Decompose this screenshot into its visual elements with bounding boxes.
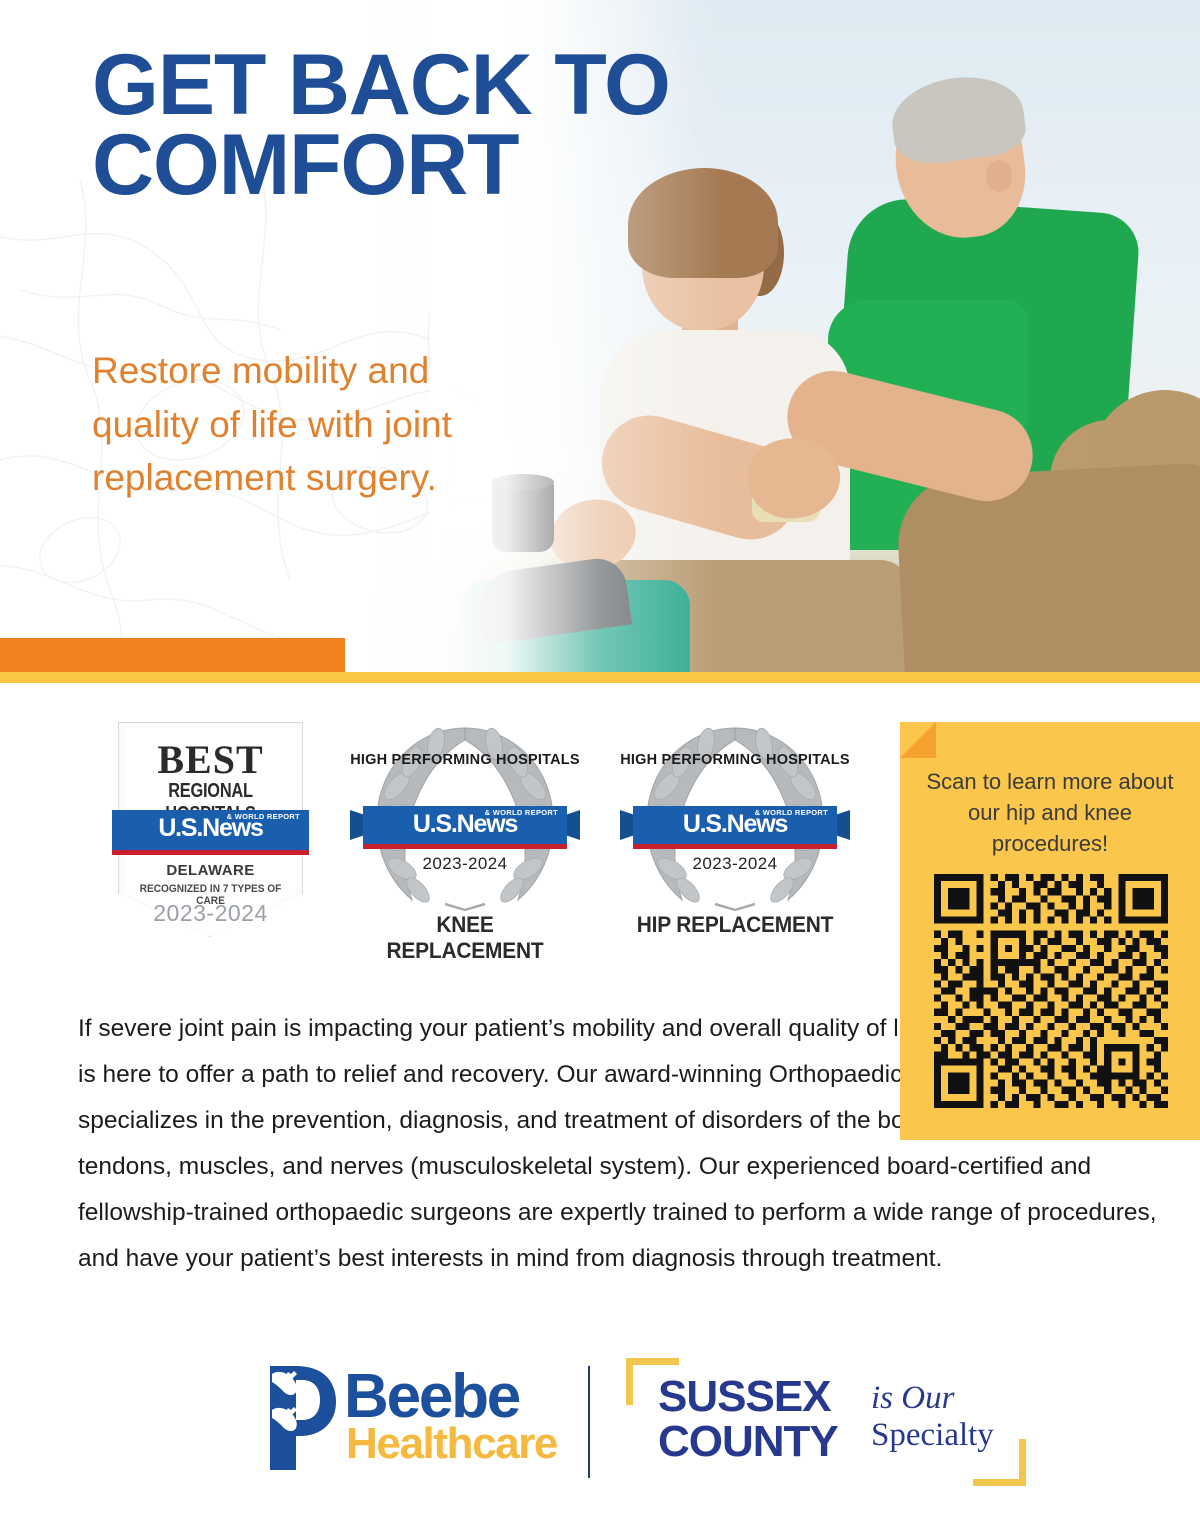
badge-years: 2023-2024 — [118, 900, 303, 927]
beebe-b-with-hands-icon — [266, 1364, 340, 1472]
world-report-text: & WORLD REPORT — [485, 808, 558, 817]
qr-code-icon — [934, 874, 1168, 1108]
badge-best-regional-hospitals: BEST REGIONAL HOSPITALS U.S.News & WORLD… — [118, 722, 303, 937]
folded-corner — [900, 722, 936, 758]
page-title: GET BACK TO COMFORT — [92, 46, 752, 206]
orange-accent-bar — [0, 638, 345, 672]
footer-logos: Beebe Healthcare SUSSEX COUNTY is Our Sp… — [0, 1352, 1200, 1522]
tagline-line2: Specialty — [871, 1417, 994, 1454]
healthcare-wordmark: Healthcare — [346, 1422, 557, 1466]
badge-knee-replacement: HIGH PERFORMING HOSPITALS U.S.News & WOR… — [350, 714, 580, 964]
badge-state: DELAWARE — [118, 862, 303, 879]
sussex-county-text: SUSSEX COUNTY — [658, 1374, 838, 1465]
ribbon-red-stripe — [633, 844, 837, 849]
badge-tier: HIGH PERFORMING HOSPITALS — [620, 752, 850, 770]
beebe-healthcare-logo[interactable]: Beebe Healthcare — [266, 1364, 556, 1484]
badge-years: 2023-2024 — [350, 854, 580, 874]
badge-hip-replacement: HIGH PERFORMING HOSPITALS U.S.News & WOR… — [620, 714, 850, 964]
badge-label: KNEE REPLACEMENT — [356, 912, 575, 964]
usnews-ribbon: U.S.News & WORLD REPORT — [633, 806, 837, 844]
hero-subheading: Restore mobility and quality of life wit… — [92, 344, 512, 505]
badge-tier: HIGH PERFORMING HOSPITALS — [350, 752, 580, 770]
badge-label: HIP REPLACEMENT — [626, 912, 845, 938]
tagline-line1: is Our — [871, 1380, 994, 1417]
logo-divider — [588, 1366, 590, 1478]
badge-best-word: BEST — [118, 736, 303, 783]
yellow-accent-bar — [0, 672, 1200, 683]
qr-instructions: Scan to learn more about our hip and kne… — [900, 766, 1200, 860]
man-ear — [986, 160, 1012, 192]
sussex-line2: COUNTY — [658, 1419, 838, 1464]
hero-section: GET BACK TO COMFORT Restore mobility and… — [0, 0, 1200, 683]
sussex-line1: SUSSEX — [658, 1374, 838, 1419]
badge-years: 2023-2024 — [620, 854, 850, 874]
awards-row: BEST REGIONAL HOSPITALS U.S.News & WORLD… — [0, 700, 880, 970]
ribbon-red-stripe — [112, 850, 309, 855]
tagline: is Our Specialty — [871, 1380, 994, 1454]
man-leg — [895, 462, 1200, 672]
usnews-ribbon: U.S.News & WORLD REPORT — [363, 806, 567, 844]
sussex-county-lockup: SUSSEX COUNTY is Our Specialty — [626, 1358, 1026, 1486]
world-report-text: & WORLD REPORT — [227, 812, 300, 821]
qr-callout-card[interactable]: Scan to learn more about our hip and kne… — [900, 722, 1200, 1140]
ribbon-red-stripe — [363, 844, 567, 849]
qr-code[interactable] — [934, 874, 1168, 1108]
world-report-text: & WORLD REPORT — [755, 808, 828, 817]
usnews-ribbon: U.S.News & WORLD REPORT — [112, 810, 309, 852]
